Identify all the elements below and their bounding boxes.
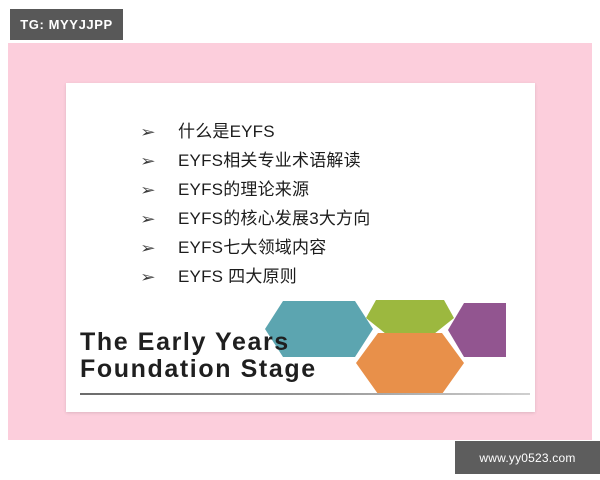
site-watermark: www.yy0523.com [455, 441, 600, 474]
hexagon-green-icon [366, 300, 454, 334]
arrow-bullet-icon: ➢ [140, 118, 188, 147]
list-item: ➢ EYFS 四大原则 [140, 262, 520, 291]
list-item-label: 什么是EYFS [178, 117, 275, 146]
list-item: ➢ 什么是EYFS [140, 117, 520, 146]
arrow-bullet-icon: ➢ [140, 176, 188, 205]
list-item-label: EYFS七大领域内容 [178, 233, 326, 262]
arrow-bullet-icon: ➢ [140, 234, 188, 263]
logo-line-2: Foundation Stage [80, 357, 317, 382]
list-item: ➢ EYFS相关专业术语解读 [140, 146, 520, 175]
list-item: ➢ EYFS七大领域内容 [140, 233, 520, 262]
agenda-bullet-list: ➢ 什么是EYFS ➢ EYFS相关专业术语解读 ➢ EYFS的理论来源 ➢ E… [140, 117, 520, 291]
list-item-label: EYFS 四大原则 [178, 262, 297, 291]
telegram-handle-badge: TG: MYYJJPP [10, 9, 123, 40]
list-item-label: EYFS的理论来源 [178, 175, 309, 204]
arrow-bullet-icon: ➢ [140, 205, 188, 234]
list-item: ➢ EYFS的核心发展3大方向 [140, 204, 520, 233]
logo-wordmark: The Early Years Foundation Stage [80, 330, 317, 382]
list-item-label: EYFS相关专业术语解读 [178, 146, 361, 175]
arrow-bullet-icon: ➢ [140, 147, 188, 176]
hexagon-purple-icon [448, 303, 506, 357]
logo-line-1: The Early Years [80, 330, 317, 355]
list-item-label: EYFS的核心发展3大方向 [178, 204, 370, 233]
slide-card: ➢ 什么是EYFS ➢ EYFS相关专业术语解读 ➢ EYFS的理论来源 ➢ E… [66, 83, 535, 412]
eyfs-logo: The Early Years Foundation Stage [66, 288, 535, 412]
logo-divider [80, 393, 530, 395]
list-item: ➢ EYFS的理论来源 [140, 175, 520, 204]
